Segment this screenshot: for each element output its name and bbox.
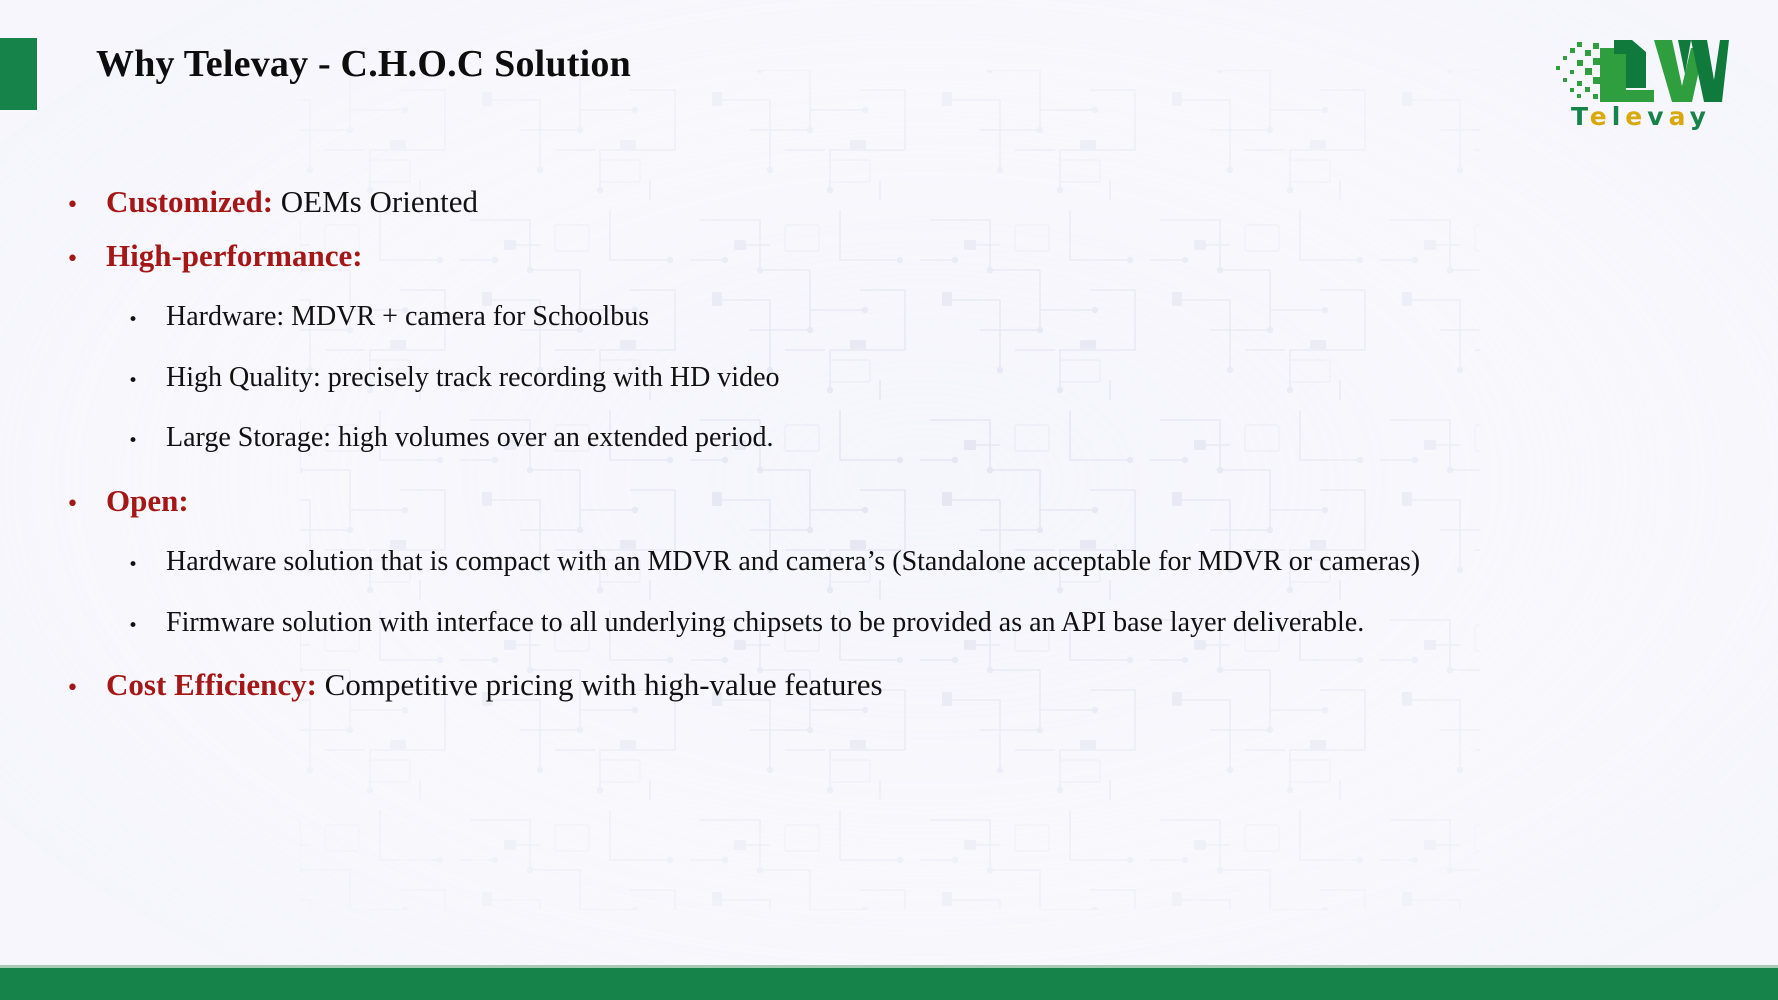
bullet-rest: Competitive pricing with high-value feat… [317, 667, 883, 702]
bullet-marker-icon: • [66, 678, 106, 700]
bullet-text: Cost Efficiency: Competitive pricing wit… [106, 665, 883, 705]
bullet-item: • High-performance: [0, 236, 1778, 276]
bullet-lead: High-performance: [106, 238, 363, 273]
bullet-text: Firmware solution with interface to all … [166, 605, 1364, 641]
logo-letter: a [1669, 102, 1690, 131]
bullet-item: • Large Storage: high volumes over an ex… [0, 420, 1778, 456]
bullet-item: • Hardware solution that is compact with… [0, 544, 1778, 580]
bullet-text: Customized: OEMs Oriented [106, 182, 478, 222]
logo-letter: y [1690, 102, 1711, 131]
lw-monogram-icon [1554, 34, 1729, 104]
bullet-lead: Customized: [106, 184, 273, 219]
bullet-marker-icon: • [66, 494, 106, 516]
bullet-item: • Cost Efficiency: Competitive pricing w… [0, 665, 1778, 705]
bullet-marker-icon: • [128, 618, 166, 635]
bullet-marker-icon: • [66, 249, 106, 271]
bullet-lead: Open: [106, 483, 189, 518]
logo-letter: e [1625, 102, 1647, 131]
bullet-text: Hardware: MDVR + camera for Schoolbus [166, 299, 649, 335]
bullet-item: • Hardware: MDVR + camera for Schoolbus [0, 299, 1778, 335]
bullet-item: • Open: [0, 481, 1778, 521]
slide: Why Televay - C.H.O.C Solution [0, 0, 1778, 1000]
title-accent-block [0, 38, 37, 110]
logo-letter: T [1571, 102, 1590, 131]
bullet-marker-icon: • [128, 373, 166, 390]
bullet-marker-icon: • [128, 557, 166, 574]
bullet-text: High Quality: precisely track recording … [166, 360, 780, 396]
logo-letter: v [1647, 102, 1668, 131]
logo-letter: l [1612, 102, 1626, 131]
bullet-lead: Cost Efficiency: [106, 667, 317, 702]
bullet-text: Open: [106, 481, 189, 521]
bullet-item: • Firmware solution with interface to al… [0, 605, 1778, 641]
bullet-marker-icon: • [128, 433, 166, 450]
page-title: Why Televay - C.H.O.C Solution [96, 44, 631, 86]
bullet-list: • Customized: OEMs Oriented • High-perfo… [0, 182, 1778, 719]
bullet-text: Large Storage: high volumes over an exte… [166, 420, 774, 456]
bullet-item: • High Quality: precisely track recordin… [0, 360, 1778, 396]
logo-wordmark: Televay [1536, 102, 1746, 131]
bullet-marker-icon: • [66, 195, 106, 217]
bullet-rest: OEMs Oriented [273, 184, 478, 219]
bullet-text: Hardware solution that is compact with a… [166, 544, 1420, 580]
footer-bar [0, 968, 1778, 1000]
logo-letter: e [1590, 102, 1612, 131]
bullet-text: High-performance: [106, 236, 363, 276]
televay-logo: Televay [1536, 34, 1746, 142]
bullet-marker-icon: • [128, 312, 166, 329]
bullet-item: • Customized: OEMs Oriented [0, 182, 1778, 222]
